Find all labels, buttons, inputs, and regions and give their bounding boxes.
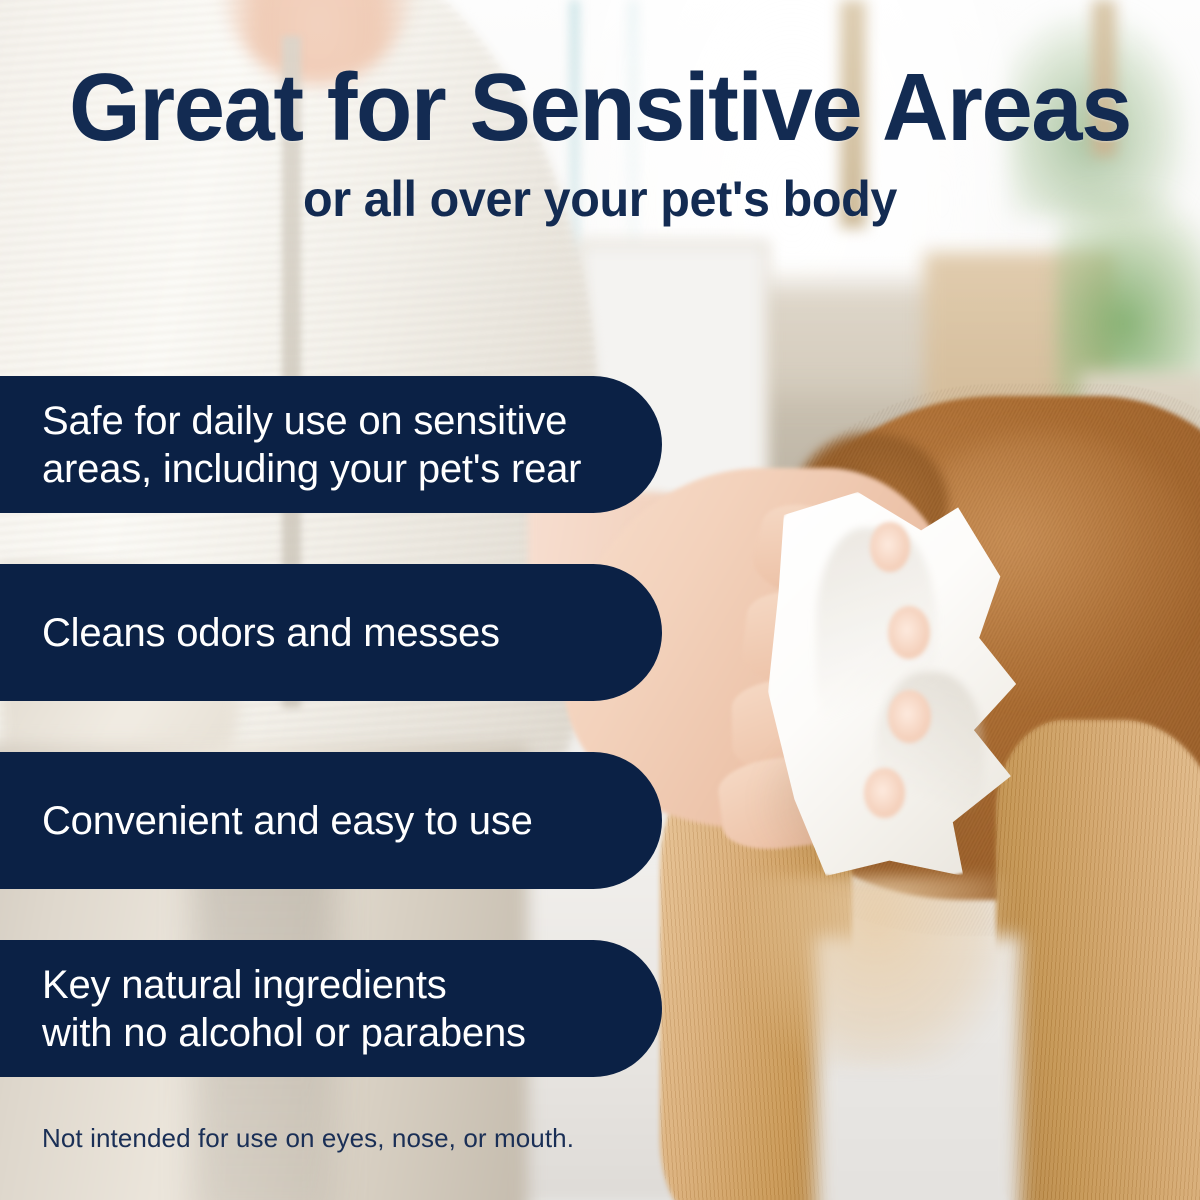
benefit-pill-ingredients: Key natural ingredients with no alcohol … xyxy=(0,940,662,1077)
benefit-text: Key natural ingredients with no alcohol … xyxy=(42,961,526,1057)
headline-block: Great for Sensitive Areas or all over yo… xyxy=(0,60,1200,224)
benefit-text: Safe for daily use on sensitive areas, i… xyxy=(42,397,581,493)
disclaimer-footnote: Not intended for use on eyes, nose, or m… xyxy=(42,1122,574,1154)
page-title: Great for Sensitive Areas xyxy=(24,60,1176,156)
dog-belly-fur xyxy=(744,876,1008,1068)
fingernail-ring xyxy=(888,690,931,743)
fingernail-middle xyxy=(888,606,930,659)
page-subtitle: or all over your pet's body xyxy=(18,174,1182,224)
promo-poster: Great for Sensitive Areas or all over yo… xyxy=(0,0,1200,1200)
benefit-text: Cleans odors and messes xyxy=(42,609,500,657)
fingernail-index xyxy=(870,522,910,572)
benefit-pill-sensitive-areas: Safe for daily use on sensitive areas, i… xyxy=(0,376,662,513)
dog-leg-right-texture xyxy=(996,720,1200,1200)
benefit-list: Safe for daily use on sensitive areas, i… xyxy=(0,376,700,1077)
benefit-text: Convenient and easy to use xyxy=(42,797,533,845)
benefit-pill-convenient: Convenient and easy to use xyxy=(0,752,662,889)
benefit-pill-odors-messes: Cleans odors and messes xyxy=(0,564,662,701)
fingernail-little xyxy=(864,768,905,818)
